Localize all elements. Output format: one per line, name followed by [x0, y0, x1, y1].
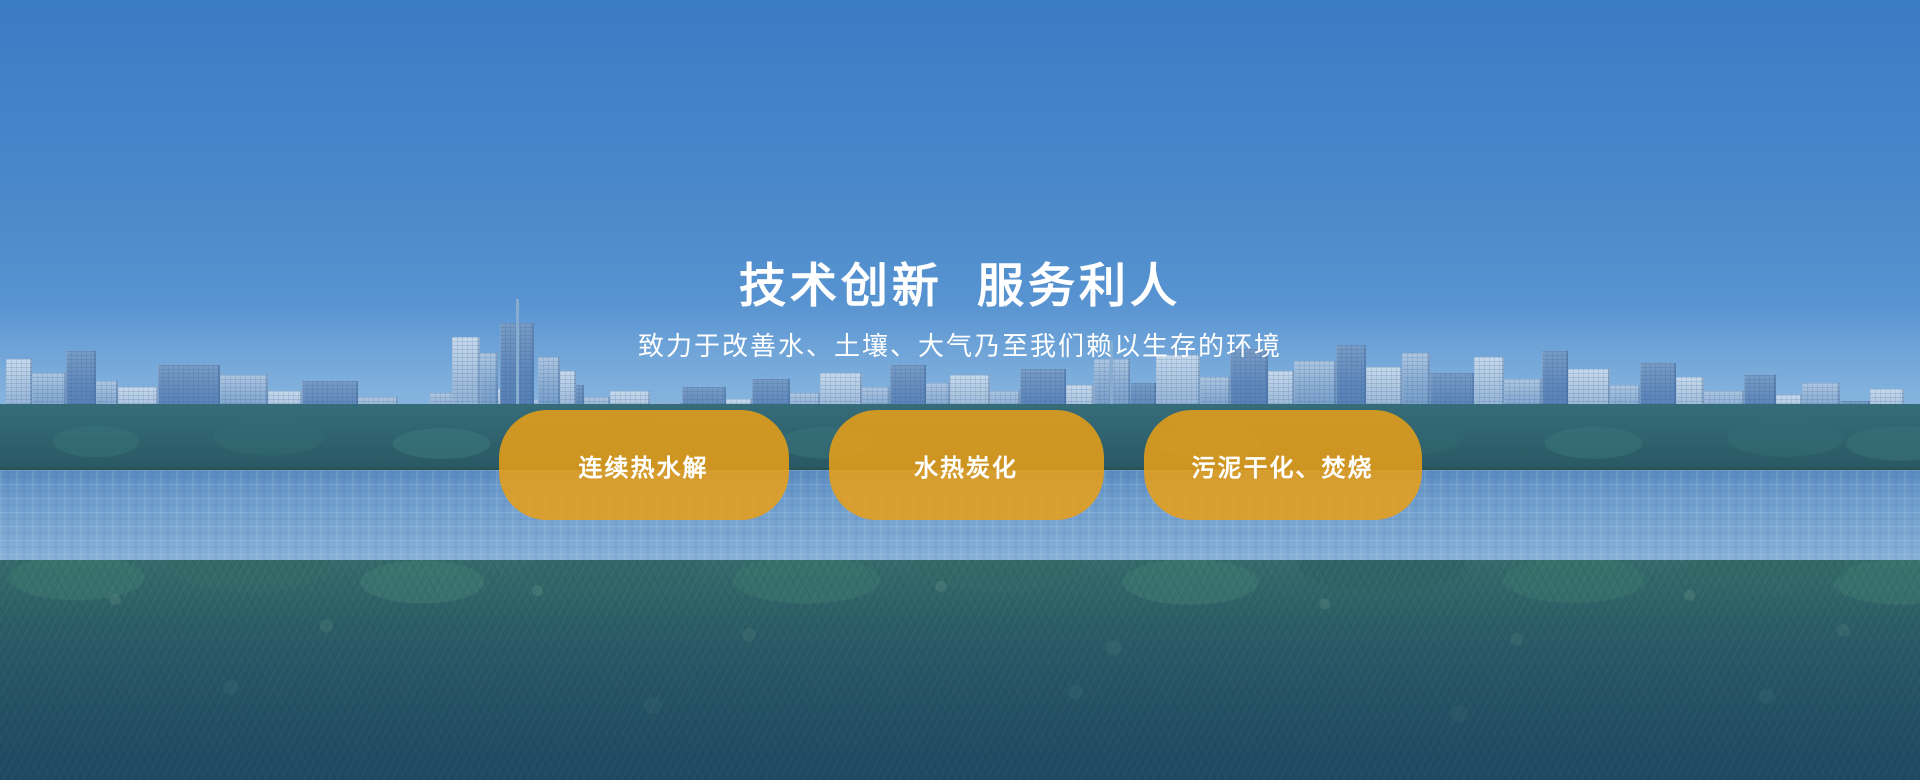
hero-content: 技术创新 服务利人 致力于改善水、土壤、大气乃至我们赖以生存的环境 连续热水解 …: [0, 0, 1920, 780]
hero-title: 技术创新 服务利人: [739, 262, 1181, 309]
service-pill-hydrothermal-carbonization[interactable]: 水热炭化: [829, 410, 1104, 520]
hero-subtitle: 致力于改善水、土壤、大气乃至我们赖以生存的环境: [638, 331, 1282, 362]
service-pill-sludge-drying-incineration[interactable]: 污泥干化、焚烧: [1144, 410, 1422, 520]
service-pill-continuous-thermal-hydrolysis[interactable]: 连续热水解: [499, 410, 789, 520]
service-pill-group: 连续热水解 水热炭化 污泥干化、焚烧: [499, 410, 1422, 520]
hero-banner: 技术创新 服务利人 致力于改善水、土壤、大气乃至我们赖以生存的环境 连续热水解 …: [0, 0, 1920, 780]
